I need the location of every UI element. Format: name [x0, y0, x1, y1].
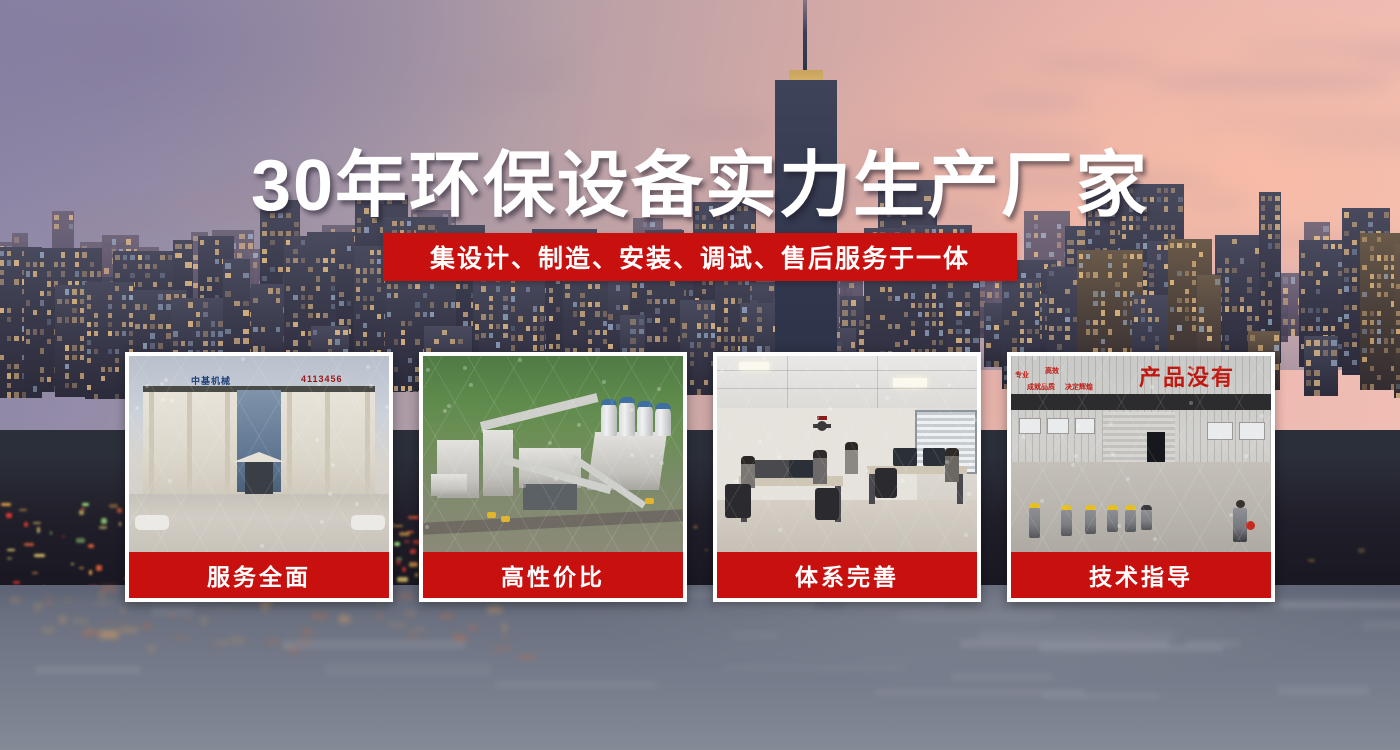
card-photo-training: 产品没有 专业 高效 成就品质 决定辉煌 [1011, 356, 1271, 552]
factory-small-slogan: 高效 [1045, 366, 1059, 376]
card-caption: 技术指导 [1011, 552, 1271, 598]
factory-wall-slogan: 产品没有 [1139, 360, 1235, 392]
feature-card[interactable]: 中基机械 4113456 服务全面 [125, 352, 393, 602]
card-caption: 服务全面 [129, 552, 389, 598]
feature-card[interactable]: 体系完善 [713, 352, 981, 602]
subtitle-text: 集设计、制造、安装、调试、售后服务于一体 [430, 239, 970, 275]
feature-card-list: 中基机械 4113456 服务全面 [125, 352, 1277, 602]
factory-small-slogan: 成就品质 [1027, 382, 1055, 392]
card-photo-plant [423, 356, 683, 552]
factory-small-slogan: 专业 [1015, 370, 1029, 380]
wall-logo-icon [809, 414, 835, 436]
page-title: 30年环保设备实力生产厂家 [0, 126, 1400, 231]
building-phone-text: 4113456 [301, 374, 343, 384]
factory-small-slogan: 决定辉煌 [1065, 382, 1093, 392]
subtitle-banner: 集设计、制造、安装、调试、售后服务于一体 [383, 233, 1017, 281]
card-photo-office [717, 356, 977, 552]
card-photo-headquarters: 中基机械 4113456 [129, 356, 389, 552]
feature-card[interactable]: 高性价比 [419, 352, 687, 602]
feature-card[interactable]: 产品没有 专业 高效 成就品质 决定辉煌 [1007, 352, 1275, 602]
card-caption: 体系完善 [717, 552, 977, 598]
tower-spire [803, 0, 807, 72]
card-caption: 高性价比 [423, 552, 683, 598]
water-reflections [0, 585, 1400, 750]
building-sign-text: 中基机械 [191, 374, 231, 387]
promo-banner: 30年环保设备实力生产厂家 集设计、制造、安装、调试、售后服务于一体 中基机械 … [0, 0, 1400, 750]
